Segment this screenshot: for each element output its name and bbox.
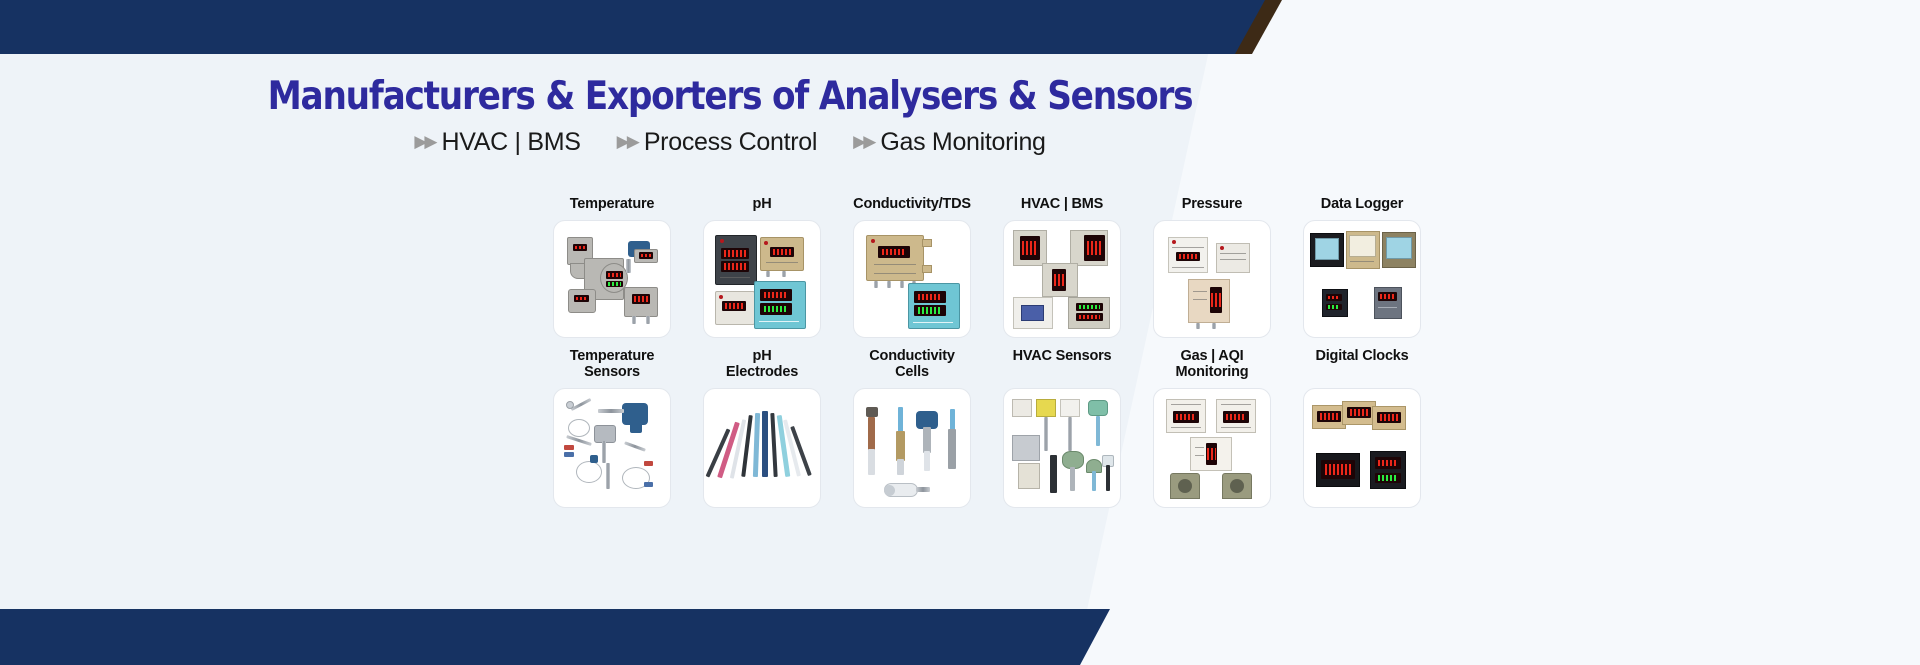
category-label: Temperature (570, 196, 655, 214)
category-image-temperature[interactable] (553, 220, 671, 338)
double-arrow-icon: ▶▶ (853, 133, 873, 150)
subtitle-item-process-control: ▶▶ Process Control (617, 128, 818, 157)
subtitle-label: HVAC | BMS (441, 128, 580, 157)
category-cell-hvac-sensors[interactable]: HVAC Sensors (987, 348, 1137, 508)
banner-top (0, 0, 1265, 54)
category-label: Digital Clocks (1315, 348, 1408, 382)
category-image-hvac-sensors[interactable] (1003, 388, 1121, 508)
category-image-ph[interactable] (703, 220, 821, 338)
category-label: Pressure (1182, 196, 1242, 214)
product-category-grid: Temperature (537, 196, 1437, 508)
sensors-row: Temperature Sensors (537, 348, 1437, 508)
category-cell-data-logger[interactable]: Data Logger (1287, 196, 1437, 338)
category-cell-conductivity-tds[interactable]: Conductivity/TDS (837, 196, 987, 338)
header: Manufacturers & Exporters of Analysers &… (0, 74, 1460, 157)
subtitle-item-gas-monitoring: ▶▶ Gas Monitoring (853, 128, 1045, 157)
category-cell-pressure[interactable]: Pressure (1137, 196, 1287, 338)
subtitle-label: Process Control (644, 128, 817, 157)
category-label: Data Logger (1321, 196, 1403, 214)
category-label: Temperature Sensors (570, 348, 655, 382)
category-label: Conductivity Cells (869, 348, 954, 382)
double-arrow-icon: ▶▶ (414, 133, 434, 150)
category-image-conductivity-tds[interactable] (853, 220, 971, 338)
category-image-hvac-bms[interactable] (1003, 220, 1121, 338)
category-cell-ph[interactable]: pH (687, 196, 837, 338)
category-image-temperature-sensors[interactable] (553, 388, 671, 508)
category-cell-temperature[interactable]: Temperature (537, 196, 687, 338)
category-cell-conductivity-cells[interactable]: Conductivity Cells (837, 348, 987, 508)
category-image-ph-electrodes[interactable] (703, 388, 821, 508)
category-image-pressure[interactable] (1153, 220, 1271, 338)
category-cell-hvac-bms[interactable]: HVAC | BMS (987, 196, 1137, 338)
instruments-row: Temperature (537, 196, 1437, 338)
category-image-gas-aqi-monitoring[interactable] (1153, 388, 1271, 508)
category-image-digital-clocks[interactable] (1303, 388, 1421, 508)
category-cell-digital-clocks[interactable]: Digital Clocks (1287, 348, 1437, 508)
category-label: pH (753, 196, 772, 214)
category-image-data-logger[interactable] (1303, 220, 1421, 338)
category-label: Gas | AQI Monitoring (1176, 348, 1249, 382)
subtitle-item-hvac-bms: ▶▶ HVAC | BMS (414, 128, 580, 157)
category-cell-gas-aqi-monitoring[interactable]: Gas | AQI Monitoring (1137, 348, 1287, 508)
category-label: pH Electrodes (726, 348, 798, 382)
subtitle-label: Gas Monitoring (880, 128, 1045, 157)
double-arrow-icon: ▶▶ (617, 133, 637, 150)
category-label: HVAC | BMS (1021, 196, 1103, 214)
page-title: Manufacturers & Exporters of Analysers &… (88, 74, 1373, 119)
category-label: HVAC Sensors (1013, 348, 1112, 382)
banner-bottom (0, 609, 1110, 665)
category-cell-ph-electrodes[interactable]: pH Electrodes (687, 348, 837, 508)
category-cell-temperature-sensors[interactable]: Temperature Sensors (537, 348, 687, 508)
category-label: Conductivity/TDS (853, 196, 971, 214)
subtitle-list: ▶▶ HVAC | BMS ▶▶ Process Control ▶▶ Gas … (0, 128, 1460, 157)
category-image-conductivity-cells[interactable] (853, 388, 971, 508)
